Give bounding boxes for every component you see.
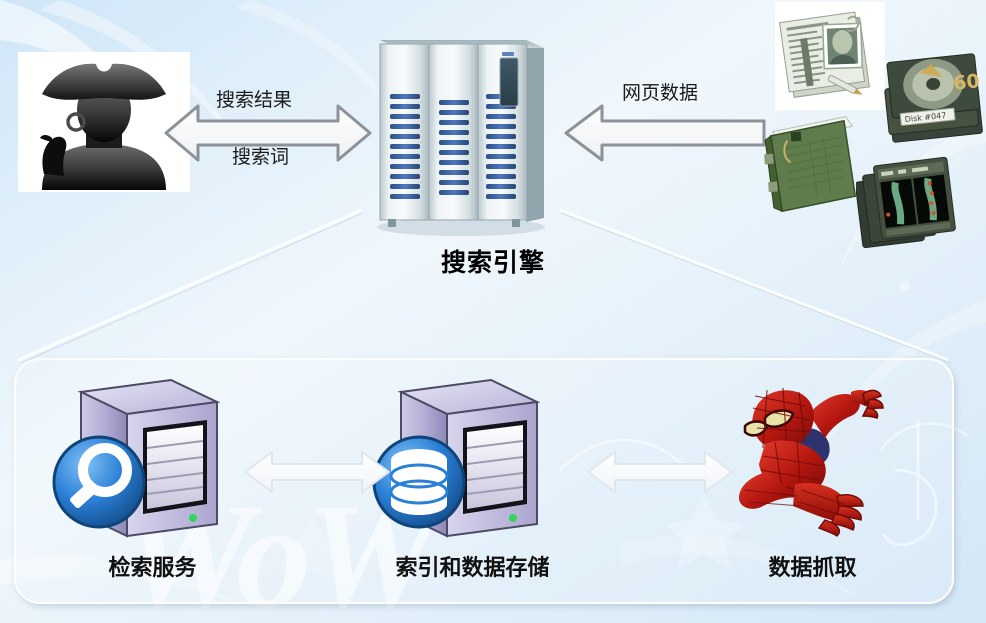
connector-index-to-crawler	[585, 447, 735, 497]
newspaper-icon	[775, 2, 885, 110]
server-database-icon	[365, 372, 580, 542]
node-data-crawler[interactable]: 数据抓取	[705, 372, 920, 582]
label-web-data: 网页数据	[622, 78, 698, 105]
node-retrieval-service[interactable]: 检索服务	[45, 372, 260, 582]
diagram-canvas: WoW	[0, 0, 986, 623]
label-search-results: 搜索结果	[216, 85, 292, 112]
folder-binder-icon	[763, 113, 863, 217]
server-rack-icon	[366, 22, 556, 237]
node-label-retrieval-service: 检索服务	[45, 550, 260, 582]
page-title: 搜索引擎	[0, 243, 986, 279]
server-magnifier-icon	[45, 372, 260, 542]
cd-disc-icon: 60 Disk #047	[883, 48, 986, 154]
node-label-data-crawler: 数据抓取	[705, 550, 920, 582]
connector-retrieval-to-index	[242, 447, 392, 497]
label-search-query: 搜索词	[232, 142, 289, 169]
node-label-index-and-storage: 索引和数据存储	[365, 550, 580, 582]
node-index-and-storage[interactable]: 索引和数据存储	[365, 372, 580, 582]
svg-text:60: 60	[952, 70, 981, 95]
film-sheets-icon	[856, 154, 962, 252]
spiderman-icon	[705, 372, 920, 542]
sources-engine-arrow	[562, 102, 768, 164]
